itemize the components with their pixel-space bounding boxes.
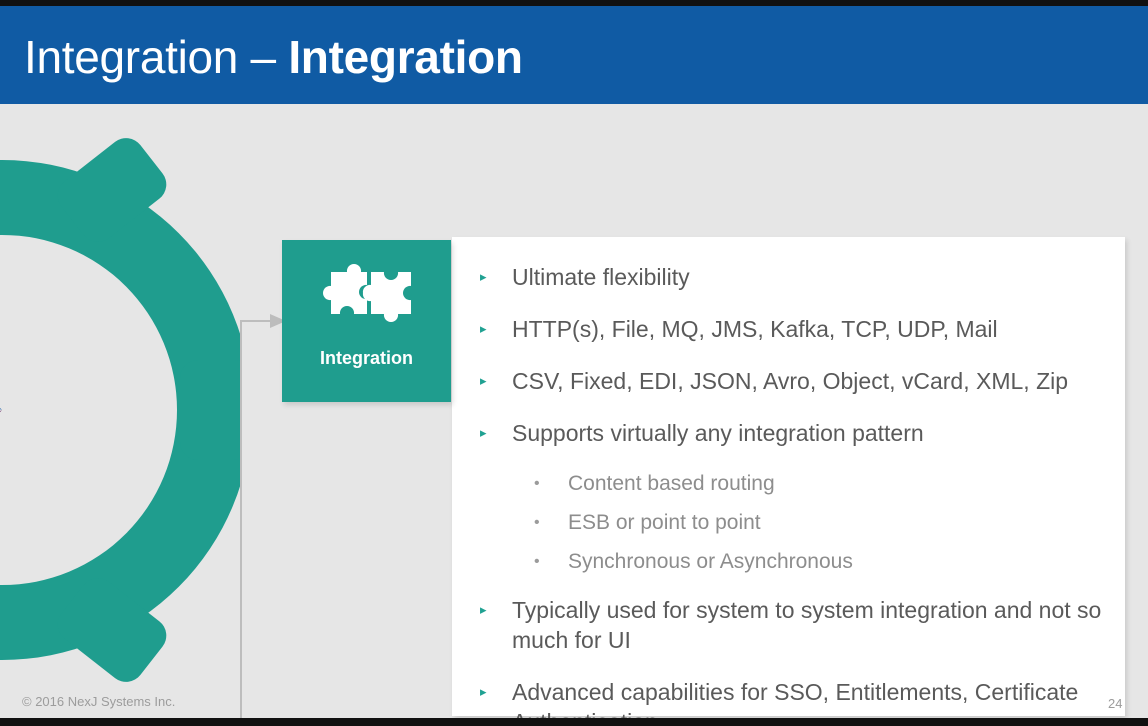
page-title-prefix: Integration – [24,31,288,83]
footer-copyright: © 2016 NexJ Systems Inc. [22,694,175,709]
sub-bullet-text: Content based routing [568,470,1112,497]
bullet-item: ▸ HTTP(s), File, MQ, JMS, Kafka, TCP, UD… [472,314,1112,344]
sub-bullet-marker-icon: • [528,548,568,575]
bullet-text: CSV, Fixed, EDI, JSON, Avro, Object, vCa… [512,366,1112,396]
bullet-text: Typically used for system to system inte… [512,595,1112,655]
bullet-text: HTTP(s), File, MQ, JMS, Kafka, TCP, UDP,… [512,314,1112,344]
bullet-marker-icon: ▸ [472,418,512,448]
ring-svg [0,104,242,718]
bullet-list: ▸ Ultimate flexibility ▸ HTTP(s), File, … [472,262,1112,718]
bullet-marker-icon: ▸ [472,314,512,344]
page-title: Integration – Integration [24,28,523,86]
integration-card-label: Integration [282,348,451,369]
sub-bullet-marker-icon: • [528,509,568,536]
bullet-item: ▸ Advanced capabilities for SSO, Entitle… [472,677,1112,718]
puzzle-pieces-icon [321,258,413,324]
integration-ring-graphic: Integration [0,104,242,718]
teal-ring [0,131,242,689]
sub-bullet-item: • ESB or point to point [472,509,1112,536]
bottom-border-bar [0,718,1148,726]
sub-bullet-marker-icon: • [528,470,568,497]
bullet-marker-icon: ▸ [472,366,512,396]
sub-bullet-item: • Content based routing [472,470,1112,497]
bullet-marker-icon: ▸ [472,677,512,707]
presentation-slide: Integration – Integration [0,0,1148,726]
bullet-item: ▸ CSV, Fixed, EDI, JSON, Avro, Object, v… [472,366,1112,396]
bullet-marker-icon: ▸ [472,595,512,625]
sub-bullet-text: ESB or point to point [568,509,1112,536]
sub-bullet-text: Synchronous or Asynchronous [568,548,1112,575]
ring-tab-right [180,360,242,460]
integration-icon-card[interactable]: Integration [282,240,451,402]
slide-body: Integration Integration ▸ Ultimate flexi… [0,104,1148,718]
sub-bullet-item: • Synchronous or Asynchronous [472,548,1112,575]
page-title-emphasis: Integration [288,31,522,83]
bullet-item: ▸ Ultimate flexibility [472,262,1112,292]
bullet-text: Ultimate flexibility [512,262,1112,292]
slide-header: Integration – Integration [0,6,1148,104]
bullet-item: ▸ Typically used for system to system in… [472,595,1112,655]
bullet-marker-icon: ▸ [472,262,512,292]
slide-number: 24 [1108,696,1122,711]
bullet-text: Advanced capabilities for SSO, Entitleme… [512,677,1112,718]
bullet-item: ▸ Supports virtually any integration pat… [472,418,1112,448]
bullet-text: Supports virtually any integration patte… [512,418,1112,448]
